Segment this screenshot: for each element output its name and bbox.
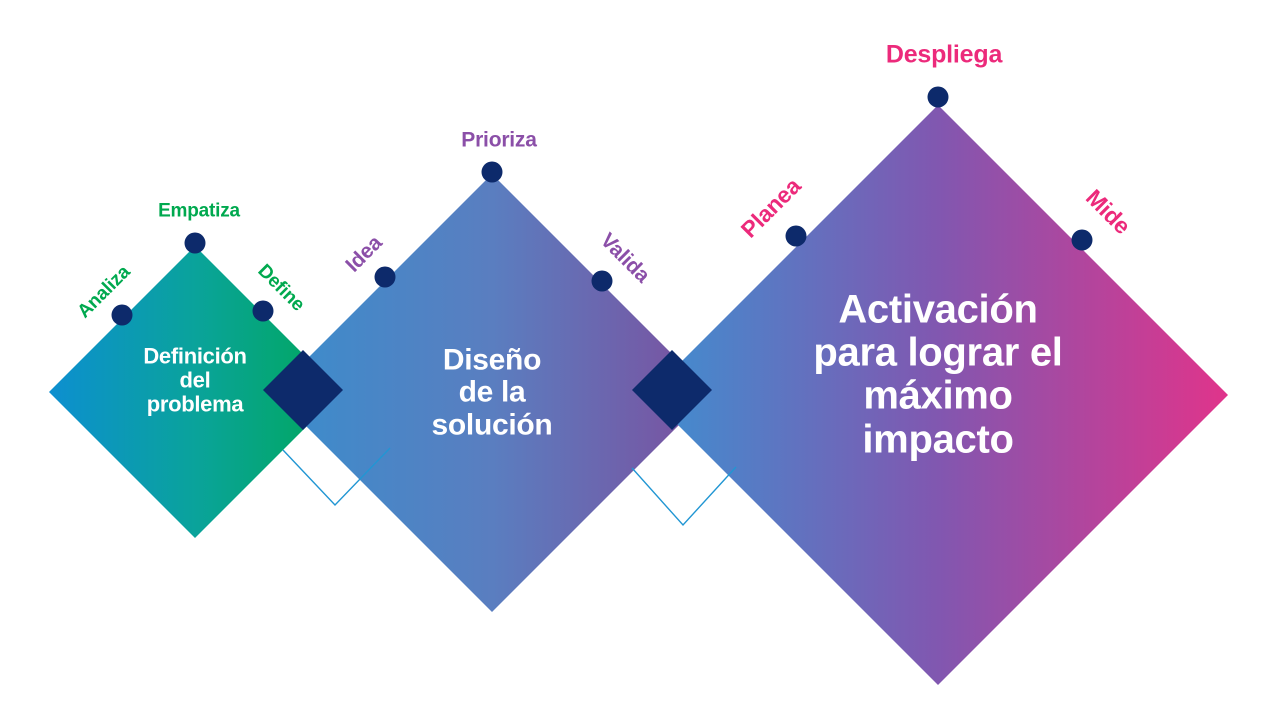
node-dot-empatiza[interactable] — [185, 233, 206, 254]
double-diamond-graphic — [0, 0, 1280, 720]
diagram-canvas: AnalizaEmpatizaDefineIdeaPriorizaValidaP… — [0, 0, 1280, 720]
node-dot-planea[interactable] — [786, 226, 807, 247]
node-label-empatiza[interactable]: Empatiza — [158, 202, 240, 221]
node-dot-despliega[interactable] — [928, 87, 949, 108]
node-dot-analiza[interactable] — [112, 305, 133, 326]
outline-chevron-2 — [632, 467, 736, 525]
phase-diamond-activacion-maximo-impacto[interactable] — [648, 105, 1228, 685]
node-dot-mide[interactable] — [1072, 230, 1093, 251]
node-label-prioriza[interactable]: Prioriza — [461, 130, 536, 151]
node-dot-define[interactable] — [253, 301, 274, 322]
node-dot-prioriza[interactable] — [482, 162, 503, 183]
node-dot-valida[interactable] — [592, 271, 613, 292]
node-label-despliega[interactable]: Despliega — [886, 43, 1002, 68]
node-dot-idea[interactable] — [375, 267, 396, 288]
